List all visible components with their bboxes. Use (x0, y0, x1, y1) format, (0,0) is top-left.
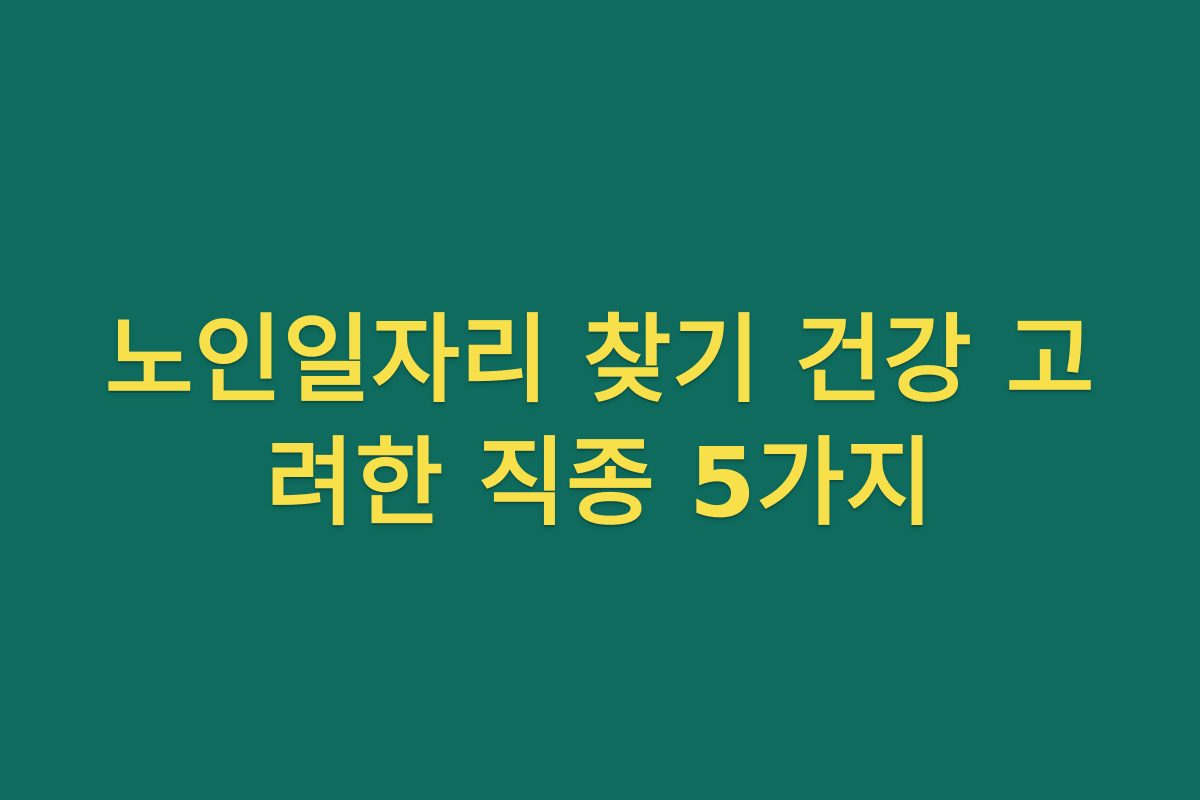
page-title: 노인일자리 찾기 건강 고 려한 직종 5가지 (70, 299, 1130, 545)
title-card: 노인일자리 찾기 건강 고 려한 직종 5가지 (0, 0, 1200, 800)
title-line-1: 노인일자리 찾기 건강 고 (70, 299, 1130, 422)
title-line-2: 려한 직종 5가지 (70, 422, 1130, 545)
